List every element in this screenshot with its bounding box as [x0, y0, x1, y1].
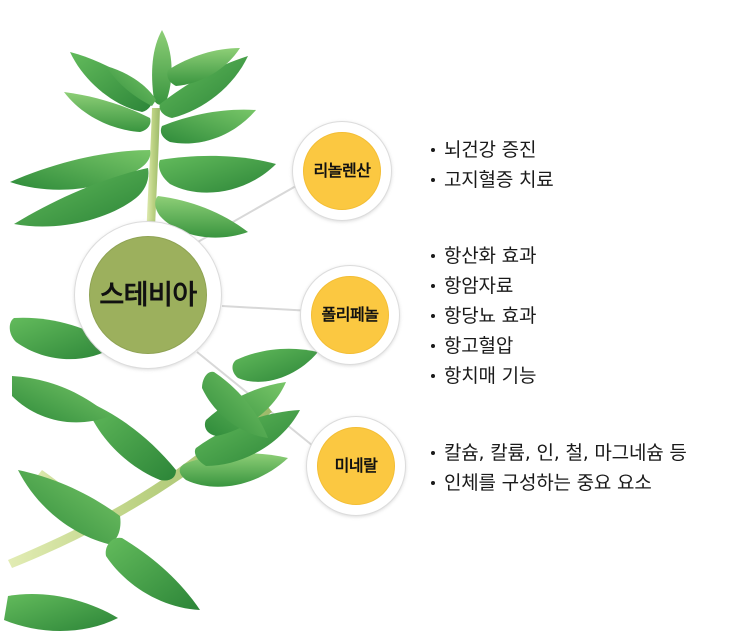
node-polyphenol-disk: 폴리페놀 — [311, 276, 389, 354]
node-mineral-label: 미네랄 — [335, 458, 378, 474]
benefit-list-mineral: 칼슘, 칼륨, 인, 철, 마그네슘 등 인체를 구성하는 중요 요소 — [430, 438, 687, 498]
list-item: 칼슘, 칼륨, 인, 철, 마그네슘 등 — [430, 438, 687, 468]
list-item: 항치매 기능 — [430, 361, 536, 391]
list-item: 인체를 구성하는 중요 요소 — [430, 468, 687, 498]
node-linolenic-acid[interactable]: 리놀렌산 — [292, 121, 392, 221]
connector-center-to-linolenic — [196, 178, 310, 243]
center-node-stevia[interactable]: 스테비아 — [74, 221, 222, 369]
benefit-list-polyphenol: 항산화 효과 항암자료 항당뇨 효과 항고혈압 항치매 기능 — [430, 241, 536, 391]
list-item: 뇌건강 증진 — [430, 135, 554, 165]
node-linolenic-acid-disk: 리놀렌산 — [303, 132, 381, 210]
center-node-label: 스테비아 — [99, 282, 196, 309]
stevia-infographic: 스테비아 리놀렌산 폴리페놀 미네랄 뇌건강 증진 고지혈증 치료 항산화 효과… — [0, 0, 740, 638]
list-item: 항산화 효과 — [430, 241, 536, 271]
list-item: 고지혈증 치료 — [430, 165, 554, 195]
node-mineral[interactable]: 미네랄 — [306, 416, 406, 516]
list-item: 항고혈압 — [430, 331, 536, 361]
connector-center-to-mineral — [197, 352, 318, 450]
benefit-list-linolenic-acid: 뇌건강 증진 고지혈증 치료 — [430, 135, 554, 195]
list-item: 항당뇨 효과 — [430, 301, 536, 331]
node-polyphenol-label: 폴리페놀 — [322, 307, 379, 323]
node-linolenic-acid-label: 리놀렌산 — [314, 163, 371, 179]
center-node-disk: 스테비아 — [89, 236, 207, 354]
list-item: 항암자료 — [430, 271, 536, 301]
node-mineral-disk: 미네랄 — [317, 427, 395, 505]
node-polyphenol[interactable]: 폴리페놀 — [300, 265, 400, 365]
connector-center-to-polyphenol — [222, 306, 312, 311]
